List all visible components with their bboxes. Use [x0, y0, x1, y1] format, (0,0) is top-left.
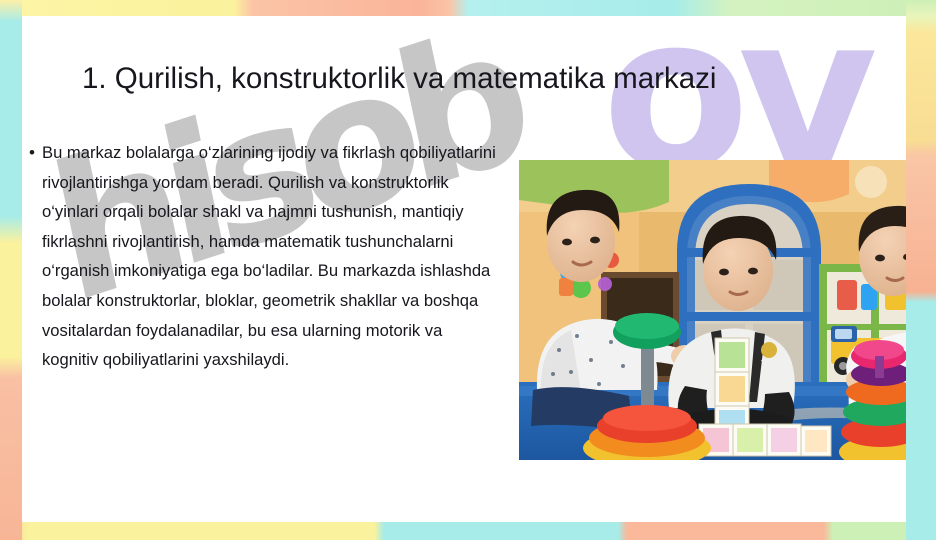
classroom-photo-illustration: [519, 160, 906, 460]
presentation-slide: ov hisob 1. Qurilish, konstruktorlik va …: [0, 0, 936, 540]
slide-body: • Bu markaz bolalarga o‘zlarining ijodiy…: [22, 138, 500, 375]
bullet-text: Bu markaz bolalarga o‘zlarining ijodiy v…: [42, 138, 500, 375]
slide-border-bottom: [0, 522, 936, 540]
bullet-list-item: • Bu markaz bolalarga o‘zlarining ijodiy…: [22, 138, 500, 375]
slide-border-right: [906, 0, 936, 540]
slide-border-left: [0, 0, 22, 540]
slide-title: 1. Qurilish, konstruktorlik va matematik…: [82, 60, 872, 98]
slide-content-panel: ov hisob 1. Qurilish, konstruktorlik va …: [22, 16, 906, 522]
classroom-photo: [519, 160, 906, 460]
slide-border-top: [0, 0, 936, 16]
bullet-marker-icon: •: [22, 138, 42, 168]
